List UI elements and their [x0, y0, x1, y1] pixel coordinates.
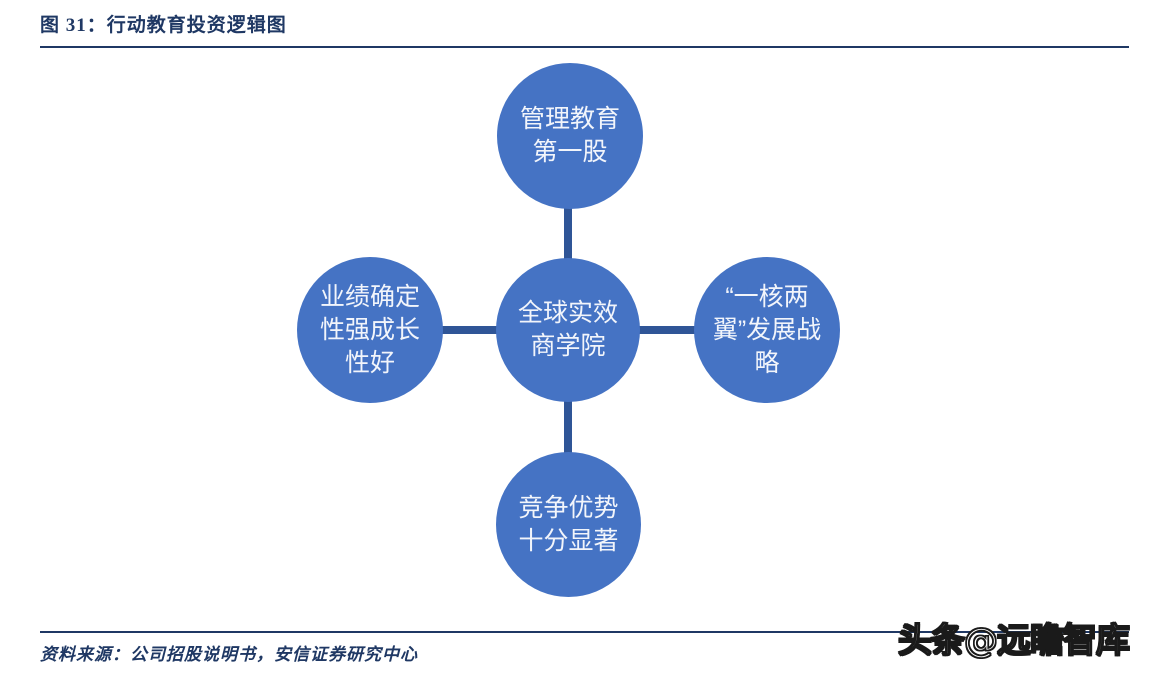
- node-top[interactable]: 管理教育第一股: [497, 63, 643, 209]
- node-left[interactable]: 业绩确定性强成长性好: [297, 257, 443, 403]
- watermark-account: 远瞻智库: [997, 621, 1129, 661]
- node-right[interactable]: “一核两翼”发展战略: [694, 257, 840, 403]
- node-center-label: 全球实效商学院: [496, 297, 640, 363]
- node-top-label: 管理教育第一股: [497, 103, 643, 169]
- watermark-brand: 头条: [898, 621, 964, 661]
- watermark: 头条@远瞻智库: [898, 618, 1129, 664]
- watermark-at-icon: @: [964, 621, 997, 661]
- node-center[interactable]: 全球实效商学院: [496, 258, 640, 402]
- investment-logic-diagram: 管理教育第一股 业绩确定性强成长性好 全球实效商学院 “一核两翼”发展战略 竞争…: [0, 0, 1169, 676]
- source-note: 资料来源：公司招股说明书，安信证券研究中心: [40, 640, 418, 665]
- node-left-label: 业绩确定性强成长性好: [297, 281, 443, 380]
- node-bottom-label: 竞争优势十分显著: [496, 492, 641, 558]
- node-right-label: “一核两翼”发展战略: [694, 281, 840, 380]
- node-bottom[interactable]: 竞争优势十分显著: [496, 452, 641, 597]
